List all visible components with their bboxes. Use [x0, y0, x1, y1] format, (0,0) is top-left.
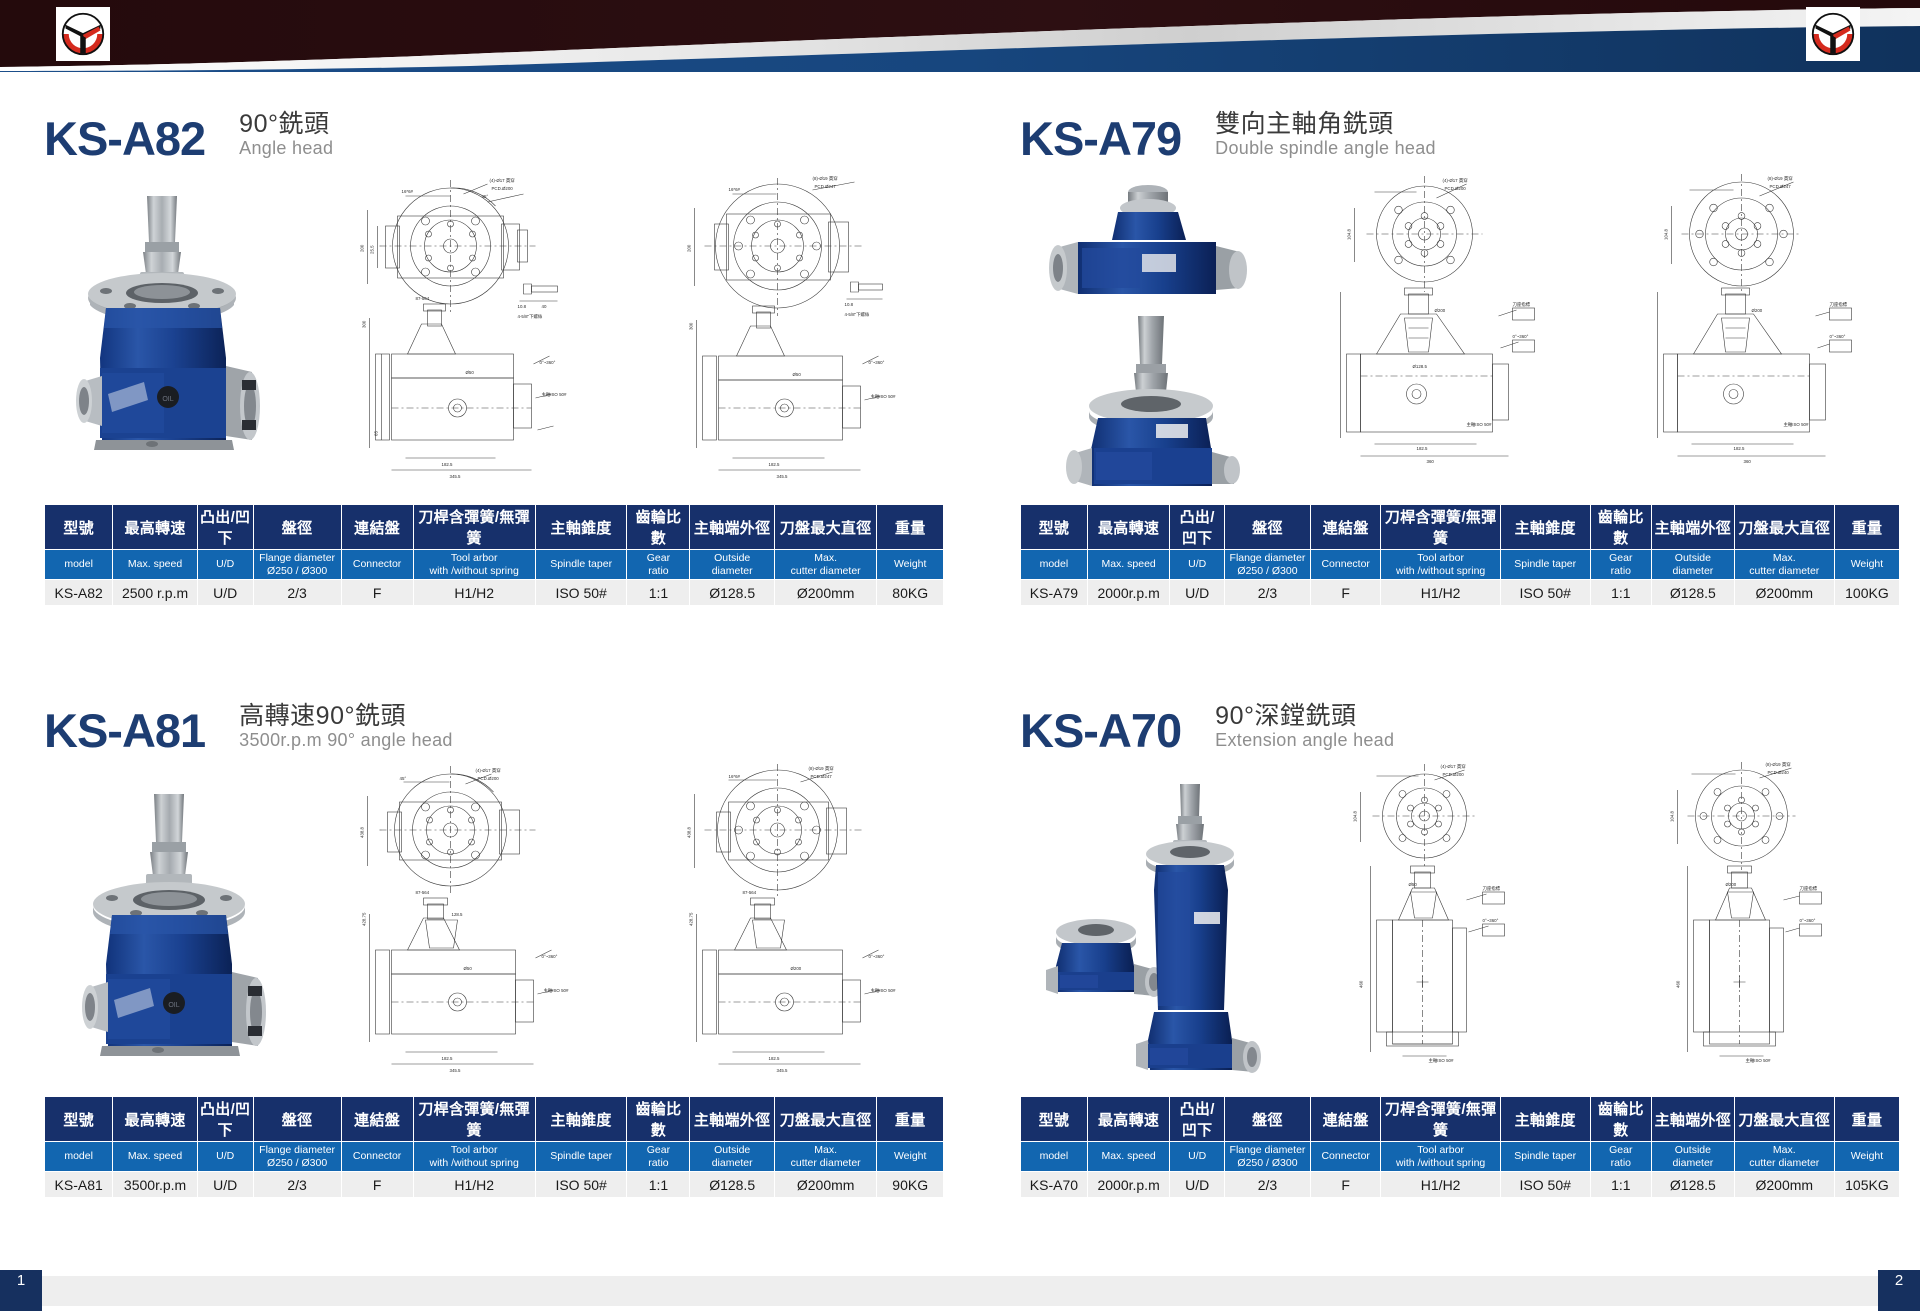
cell-gear-ratio: 1:1 [627, 580, 690, 606]
dim-104-8-label: 104.8 [1347, 228, 1352, 240]
dim-182-5-label-2: 182.5 [769, 1056, 781, 1061]
iso-note-label: 主軸ISO 50# [544, 987, 569, 994]
table-header-row-chinese: 型號 最高轉速 凸出/凹下 盤徑 連結盤 刀桿含彈簧/無彈簧 主軸錐度 齒輪比數… [1021, 1097, 1900, 1142]
pcd2-note-label: (8)-Ø19 貫穿 [1768, 175, 1794, 182]
product-section-ks-a79: KS-A79 雙向主軸角銑頭 Double spindle angle head [1020, 98, 1900, 658]
pcd-value-label: PCD.Ø200 [478, 776, 500, 781]
cell-model: KS-A81 [45, 1172, 113, 1198]
iso-note-label-2: 主軸ISO 50# [1746, 1057, 1771, 1064]
pcd2-value-label: PCD.Ø247 [1770, 184, 1792, 189]
th-cn-10: 重量 [877, 505, 944, 550]
dim-182-5-label: 182.5 [442, 462, 454, 467]
drawing-left: 45° (4)-Ø17 貫穿 PCD.Ø200 438.8 87-564 Ø50… [294, 760, 617, 1090]
flange-and-section-drawing: (4)-Ø17 貫穿 PCD.Ø200 104.8 Ø200 Ø128.5 刀座… [1270, 168, 1583, 498]
cell-flange-diameter: 2/3 [253, 1172, 341, 1198]
cell-max-cutter-diameter: Ø200mm [1734, 580, 1834, 606]
rotation-note-label: 0°~360° [1483, 918, 1499, 923]
cell-max-speed: 2000r.p.m [1087, 1172, 1170, 1198]
th-cn-6: 主軸錐度 [1500, 1097, 1590, 1142]
dim-200-label-2: Ø200 [1752, 308, 1763, 313]
flange-and-extension-section-drawing: (4)-Ø17 貫穿 PCD.Ø200 104.8 Ø50 460 刀座指標 0… [1270, 760, 1583, 1090]
pcd2-value-label: PCD.Ø240 [1768, 770, 1790, 775]
product-title-row: KS-A81 高轉速90°銑頭 3500r.p.m 90° angle head [44, 690, 944, 756]
th-cn-7: 齒輪比數 [1590, 1097, 1652, 1142]
dim-16x6-label-2: 16*6# [729, 187, 741, 192]
cell-weight: 100KG [1834, 580, 1899, 606]
th-cn-10: 重量 [1834, 1097, 1899, 1142]
th-en-2: U/D [1170, 1142, 1224, 1172]
dim-428-75-label: 428.75 [362, 912, 367, 926]
product-title-english: Extension angle head [1215, 730, 1394, 752]
dim-65-label: 65 [374, 431, 379, 436]
company-logo-icon [60, 11, 106, 57]
dim-50-label: Ø50 [1409, 882, 1418, 887]
dim-182-5-label-2: 182.5 [769, 462, 781, 467]
dim-300-label: 300 [362, 320, 367, 328]
table-header-row-english: model Max. speed U/D Flange diameterØ250… [45, 550, 944, 580]
th-en-10: Weight [1834, 1142, 1899, 1172]
dim-16x6-label: 16*6# [402, 189, 414, 194]
angle-45-label: 45° [400, 776, 407, 781]
bolt-length-label: 40 [542, 304, 547, 309]
iso-note-label: 主軸ISO 50# [1467, 421, 1492, 428]
th-cn-1: 最高轉速 [113, 1097, 198, 1142]
dim-104-8-label-2: 104.8 [1670, 810, 1675, 822]
cell-spindle-taper: ISO 50# [1500, 1172, 1590, 1198]
cell-spindle-taper: ISO 50# [535, 1172, 627, 1198]
product-visual-area: (4)-Ø17 貫穿 PCD.Ø200 104.8 Ø50 460 刀座指標 0… [1020, 760, 1900, 1090]
dim-50-label: Ø50 [466, 370, 475, 375]
th-cn-8: 主軸端外徑 [1652, 1097, 1735, 1142]
th-en-8: Outsidediameter [690, 550, 775, 580]
th-cn-1: 最高轉速 [1087, 505, 1170, 550]
rotation-note-label-2: 0°~360° [1800, 918, 1816, 923]
th-cn-0: 型號 [45, 1097, 113, 1142]
th-en-1: Max. speed [113, 550, 198, 580]
dim-50-label: Ø50 [464, 966, 473, 971]
spec-table-ks-a82: 型號 最高轉速 凸出/凹下 盤徑 連結盤 刀桿含彈簧/無彈簧 主軸錐度 齒輪比數… [44, 504, 944, 606]
th-cn-7: 齒輪比數 [627, 1097, 690, 1142]
th-en-10: Weight [877, 550, 944, 580]
th-cn-1: 最高轉速 [1087, 1097, 1170, 1142]
dim-128-5-label: 128.5 [452, 912, 464, 917]
cell-outside-diameter: Ø128.5 [690, 1172, 775, 1198]
th-en-3: Flange diameterØ250 / Ø300 [253, 1142, 341, 1172]
rotation-note-label: 0°~360° [540, 360, 556, 365]
th-en-6: Spindle taper [1500, 1142, 1590, 1172]
dim-128-5-label: Ø128.5 [1413, 364, 1428, 369]
dim-87-564-label: 87-564 [416, 296, 430, 301]
technical-drawings-ks-a70: (4)-Ø17 貫穿 PCD.Ø200 104.8 Ø50 460 刀座指標 0… [1270, 760, 1900, 1090]
product-model-code: KS-A82 [44, 115, 205, 164]
pcd2-note-label: (8)-Ø19 貫穿 [1766, 761, 1792, 768]
th-en-9: Max.cutter diameter [774, 1142, 876, 1172]
th-cn-10: 重量 [1834, 505, 1899, 550]
cell-max-speed: 3500r.p.m [113, 1172, 198, 1198]
th-cn-6: 主軸錐度 [1500, 505, 1590, 550]
product-title-chinese: 90°銑頭 [239, 110, 333, 138]
second-flange-and-extension-section-drawing: (8)-Ø19 貫穿 PCD.Ø240 104.8 Ø200 460 刀座指標 … [1587, 760, 1900, 1090]
th-cn-1: 最高轉速 [113, 505, 198, 550]
cell-max-speed: 2000r.p.m [1087, 580, 1170, 606]
pcd-note-label: (4)-Ø17 貫穿 [476, 767, 502, 774]
cell-max-speed: 2500 r.p.m [113, 580, 198, 606]
th-en-0: model [45, 550, 113, 580]
bolt-head-label: 10.8 [518, 304, 527, 309]
th-en-5: Tool arborwith /without spring [413, 550, 535, 580]
iso-note-label-2: 主軸ISO 50# [871, 987, 896, 994]
technical-drawings-ks-a79: (4)-Ø17 貫穿 PCD.Ø200 104.8 Ø200 Ø128.5 刀座… [1270, 168, 1900, 498]
cell-flange-diameter: 2/3 [1224, 580, 1310, 606]
pcd2-value-label: PCD.Ø247 [811, 774, 833, 779]
th-cn-8: 主軸端外徑 [690, 505, 775, 550]
th-cn-10: 重量 [877, 1097, 944, 1142]
product-visual-area: (4)-Ø17 貫穿 PCD.Ø200 104.8 Ø200 Ø128.5 刀座… [1020, 168, 1900, 498]
lock-note-label: 刀座指標 [1513, 301, 1531, 308]
th-en-4: Connector [1311, 550, 1381, 580]
th-en-7: Gearratio [1590, 550, 1652, 580]
dim-438-8-label-2: 438.8 [687, 826, 692, 838]
product-section-ks-a70: KS-A70 90°深鏜銑頭 Extension angle head [1020, 690, 1900, 1250]
dim-460-label-2: 460 [1676, 980, 1681, 988]
iso-note-label: 主軸ISO 50# [542, 391, 567, 398]
iso-note-label-2: 主軸ISO 50# [1784, 421, 1809, 428]
product-title-row: KS-A70 90°深鏜銑頭 Extension angle head [1020, 690, 1900, 756]
drawing-top-view-right: 16*6# (8)-Ø19 貫穿 PCD.Ø247 200 10.8 4-5/8… [621, 168, 944, 498]
th-cn-5: 刀桿含彈簧/無彈簧 [1381, 505, 1501, 550]
product-photo-ks-a70 [1020, 760, 1270, 1090]
svg-text:OIL: OIL [162, 396, 173, 403]
dim-438-8-label: 438.8 [360, 826, 365, 838]
product-model-code: KS-A70 [1020, 707, 1181, 756]
logo-container-left [56, 7, 110, 61]
th-cn-2: 凸出/凹下 [1170, 1097, 1224, 1142]
th-en-3: Flange diameterØ250 / Ø300 [1224, 1142, 1310, 1172]
cell-weight: 105KG [1834, 1172, 1899, 1198]
th-en-7: Gearratio [1590, 1142, 1652, 1172]
cell-ud: U/D [197, 1172, 253, 1198]
cell-model: KS-A70 [1021, 1172, 1088, 1198]
product-title-chinese: 高轉速90°銑頭 [239, 702, 453, 730]
th-cn-4: 連結盤 [341, 505, 413, 550]
cell-gear-ratio: 1:1 [1590, 580, 1652, 606]
cell-connector: F [341, 1172, 413, 1198]
high-speed-angle-head-photo-illustration: OIL [44, 760, 294, 1090]
footer-bar [22, 1276, 1898, 1306]
th-en-4: Connector [1311, 1142, 1381, 1172]
th-cn-4: 連結盤 [1311, 1097, 1381, 1142]
dim-50-label-2: Ø50 [793, 372, 802, 377]
cell-weight: 90KG [877, 1172, 944, 1198]
banner-swoosh-graphic [0, 0, 1920, 72]
th-cn-9: 刀盤最大直徑 [1734, 505, 1834, 550]
product-title-chinese: 雙向主軸角銑頭 [1215, 110, 1436, 138]
dim-345-5-label-2: 345.5 [777, 1068, 789, 1073]
dim-104-8-label: 104.8 [1353, 810, 1358, 822]
rotation-note-label: 0°~360° [542, 954, 558, 959]
dim-182-5-label-2: 182.5 [1734, 446, 1746, 451]
lock-note-label: 刀座指標 [1483, 885, 1501, 892]
dim-360-label: 360 [1427, 459, 1435, 464]
th-en-4: Connector [341, 1142, 413, 1172]
product-title-english: 3500r.p.m 90° angle head [239, 730, 453, 752]
th-en-9: Max.cutter diameter [1734, 1142, 1834, 1172]
technical-drawings-ks-a81: 45° (4)-Ø17 貫穿 PCD.Ø200 438.8 87-564 Ø50… [294, 760, 944, 1090]
angle-head-photo-illustration: OIL [44, 168, 294, 498]
drawing-top-view-left: 16*6# 45° (4)-Ø17 貫穿 PCD.Ø200 200 25.5 1… [294, 168, 617, 498]
table-header-row-english: model Max. speed U/D Flange diameterØ250… [45, 1142, 944, 1172]
rotation-note-label-2: 0°~360° [869, 954, 885, 959]
th-cn-0: 型號 [45, 505, 113, 550]
product-model-code: KS-A81 [44, 707, 205, 756]
th-cn-6: 主軸錐度 [535, 505, 627, 550]
th-cn-2: 凸出/凹下 [197, 505, 253, 550]
cell-outside-diameter: Ø128.5 [690, 580, 775, 606]
table-row: KS-A70 2000r.p.m U/D 2/3 F H1/H2 ISO 50#… [1021, 1172, 1900, 1198]
cell-max-cutter-diameter: Ø200mm [774, 1172, 876, 1198]
th-en-9: Max.cutter diameter [1734, 550, 1834, 580]
th-cn-4: 連結盤 [341, 1097, 413, 1142]
th-en-10: Weight [877, 1142, 944, 1172]
second-flange-and-section-drawing: (8)-Ø19 貫穿 PCD.Ø247 104.8 Ø200 刀座指標 0°~3… [1587, 168, 1900, 498]
dim-87-564-label: 87-564 [416, 890, 430, 895]
th-en-1: Max. speed [1087, 1142, 1170, 1172]
drawing-left: (4)-Ø17 貫穿 PCD.Ø200 104.8 Ø50 460 刀座指標 0… [1270, 760, 1583, 1090]
technical-drawings-ks-a82: 16*6# 45° (4)-Ø17 貫穿 PCD.Ø200 200 25.5 1… [294, 168, 944, 498]
cell-tool-arbor: H1/H2 [413, 1172, 535, 1198]
product-photo-ks-a82: OIL [44, 168, 294, 498]
dim-200-label: Ø200 [1726, 882, 1737, 887]
product-visual-area: OIL [44, 760, 944, 1090]
top-and-front-view-drawing: 16*6# 45° (4)-Ø17 貫穿 PCD.Ø200 200 25.5 1… [294, 168, 617, 498]
pcd-value-label: PCD.Ø200 [1445, 186, 1467, 191]
th-cn-7: 齒輪比數 [627, 505, 690, 550]
bolt-head-label-2: 10.8 [845, 302, 854, 307]
table-header-row-chinese: 型號 最高轉速 凸出/凹下 盤徑 連結盤 刀桿含彈簧/無彈簧 主軸錐度 齒輪比數… [1021, 505, 1900, 550]
cell-connector: F [341, 580, 413, 606]
product-section-ks-a82: KS-A82 90°銑頭 Angle head [44, 98, 944, 658]
rotation-note-label: 0°~360° [1513, 334, 1529, 339]
th-en-9: Max.cutter diameter [774, 550, 876, 580]
th-en-2: U/D [197, 1142, 253, 1172]
bolt-spec-label: 4-5/8"下螺絲 [518, 313, 543, 320]
cell-flange-diameter: 2/3 [253, 580, 341, 606]
cell-connector: F [1311, 1172, 1381, 1198]
dim-25-5-label: 25.5 [370, 245, 375, 254]
cell-spindle-taper: ISO 50# [1500, 580, 1590, 606]
th-en-3: Flange diameterØ250 / Ø300 [1224, 550, 1310, 580]
th-en-0: model [1021, 1142, 1088, 1172]
rotation-note-label-2: 0°~360° [1830, 334, 1846, 339]
product-title-row: KS-A82 90°銑頭 Angle head [44, 98, 944, 164]
cell-flange-diameter: 2/3 [1224, 1172, 1310, 1198]
th-en-7: Gearratio [627, 1142, 690, 1172]
product-title-english: Double spindle angle head [1215, 138, 1436, 160]
th-cn-8: 主軸端外徑 [690, 1097, 775, 1142]
product-section-ks-a81: KS-A81 高轉速90°銑頭 3500r.p.m 90° angle head [44, 690, 944, 1250]
dim-360-label-2: 360 [1744, 459, 1752, 464]
dim-200-label: Ø200 [1435, 308, 1446, 313]
cell-tool-arbor: H1/H2 [1381, 580, 1501, 606]
pcd2-note-label: (8)-Ø19 貫穿 [813, 175, 839, 182]
cell-ud: U/D [1170, 1172, 1224, 1198]
pcd2-value-label: PCD.Ø247 [815, 184, 837, 189]
product-model-code: KS-A79 [1020, 115, 1181, 164]
th-en-3: Flange diameterØ250 / Ø300 [253, 550, 341, 580]
product-title-chinese: 90°深鏜銑頭 [1215, 702, 1394, 730]
th-en-2: U/D [1170, 550, 1224, 580]
logo-container-right [1806, 7, 1860, 61]
cell-connector: F [1311, 580, 1381, 606]
page-number-right: 2 [1878, 1270, 1920, 1311]
second-top-and-front-view-drawing: 16*6# (8)-Ø19 貫穿 PCD.Ø247 200 10.8 4-5/8… [621, 168, 944, 498]
th-cn-3: 盤徑 [1224, 505, 1310, 550]
th-cn-2: 凸出/凹下 [1170, 505, 1224, 550]
page-number-left: 1 [0, 1270, 42, 1311]
table-header-row-chinese: 型號 最高轉速 凸出/凹下 盤徑 連結盤 刀桿含彈簧/無彈簧 主軸錐度 齒輪比數… [45, 505, 944, 550]
iso-note-label-2: 主軸ISO 50# [871, 393, 896, 400]
cell-gear-ratio: 1:1 [1590, 1172, 1652, 1198]
spec-table-ks-a70: 型號 最高轉速 凸出/凹下 盤徑 連結盤 刀桿含彈簧/無彈簧 主軸錐度 齒輪比數… [1020, 1096, 1900, 1198]
th-cn-4: 連結盤 [1311, 505, 1381, 550]
table-row: KS-A82 2500 r.p.m U/D 2/3 F H1/H2 ISO 50… [45, 580, 944, 606]
dim-200-label-2: 200 [687, 244, 692, 252]
th-cn-9: 刀盤最大直徑 [1734, 1097, 1834, 1142]
cell-gear-ratio: 1:1 [627, 1172, 690, 1198]
svg-text:OIL: OIL [168, 1002, 179, 1009]
cell-max-cutter-diameter: Ø200mm [774, 580, 876, 606]
th-cn-7: 齒輪比數 [1590, 505, 1652, 550]
dim-200-label: 200 [360, 244, 365, 252]
th-cn-9: 刀盤最大直徑 [774, 1097, 876, 1142]
th-cn-3: 盤徑 [1224, 1097, 1310, 1142]
cell-model: KS-A79 [1021, 580, 1088, 606]
th-cn-5: 刀桿含彈簧/無彈簧 [413, 1097, 535, 1142]
cell-max-cutter-diameter: Ø200mm [1734, 1172, 1834, 1198]
cell-outside-diameter: Ø128.5 [1652, 1172, 1735, 1198]
angle-45-label: 45° [482, 194, 489, 199]
dim-345-5-label-2: 345.5 [777, 474, 789, 479]
th-cn-8: 主軸端外徑 [1652, 505, 1735, 550]
th-en-4: Connector [341, 550, 413, 580]
iso-note-label: 主軸ISO 50# [1429, 1057, 1454, 1064]
th-cn-0: 型號 [1021, 1097, 1088, 1142]
dim-87-564-label-2: 87-564 [743, 890, 757, 895]
th-en-8: Outsidediameter [1652, 550, 1735, 580]
dim-345-5-label: 345.5 [450, 1068, 462, 1073]
cell-ud: U/D [1170, 580, 1224, 606]
th-cn-5: 刀桿含彈簧/無彈簧 [1381, 1097, 1501, 1142]
drawing-right: (8)-Ø19 貫穿 PCD.Ø240 104.8 Ø200 460 刀座指標 … [1587, 760, 1900, 1090]
catalog-page: KS-A82 90°銑頭 Angle head [0, 0, 1920, 1311]
th-en-5: Tool arborwith /without spring [413, 1142, 535, 1172]
th-en-8: Outsidediameter [1652, 1142, 1735, 1172]
cell-model: KS-A82 [45, 580, 113, 606]
product-title-english: Angle head [239, 138, 333, 160]
pcd2-note-label: (8)-Ø19 貫穿 [809, 765, 835, 772]
page-header-banner [0, 0, 1920, 72]
bolt-spec-label-2: 4-5/8"下螺絲 [845, 311, 870, 318]
cell-ud: U/D [197, 580, 253, 606]
dim-200-label: Ø200 [791, 966, 802, 971]
th-en-0: model [1021, 550, 1088, 580]
dim-104-8-label-2: 104.8 [1664, 228, 1669, 240]
dim-16x6-label: 16*6# [729, 774, 741, 779]
th-en-10: Weight [1834, 550, 1899, 580]
cell-tool-arbor: H1/H2 [413, 580, 535, 606]
dim-428-75-label-2: 428.75 [689, 912, 694, 926]
th-cn-0: 型號 [1021, 505, 1088, 550]
th-cn-9: 刀盤最大直徑 [774, 505, 876, 550]
th-cn-2: 凸出/凹下 [197, 1097, 253, 1142]
extension-angle-head-photo-illustration [1020, 760, 1270, 1090]
pcd-note-label: (4)-Ø17 貫穿 [1441, 763, 1467, 770]
dim-182-5-label: 182.5 [1417, 446, 1429, 451]
drawing-right: 16*6# (8)-Ø19 貫穿 PCD.Ø247 438.8 87-564 Ø… [621, 760, 944, 1090]
cell-spindle-taper: ISO 50# [535, 580, 627, 606]
th-en-6: Spindle taper [1500, 550, 1590, 580]
spec-table-ks-a79: 型號 最高轉速 凸出/凹下 盤徑 連結盤 刀桿含彈簧/無彈簧 主軸錐度 齒輪比數… [1020, 504, 1900, 606]
product-photo-ks-a79 [1020, 168, 1270, 498]
th-cn-6: 主軸錐度 [535, 1097, 627, 1142]
dim-300-label-2: 300 [689, 322, 694, 330]
th-en-5: Tool arborwith /without spring [1381, 550, 1501, 580]
table-row: KS-A79 2000r.p.m U/D 2/3 F H1/H2 ISO 50#… [1021, 580, 1900, 606]
th-en-1: Max. speed [1087, 550, 1170, 580]
spec-table-ks-a81: 型號 最高轉速 凸出/凹下 盤徑 連結盤 刀桿含彈簧/無彈簧 主軸錐度 齒輪比數… [44, 1096, 944, 1198]
lock-note-label-2: 刀座指標 [1830, 301, 1848, 308]
table-header-row-english: model Max. speed U/D Flange diameterØ250… [1021, 1142, 1900, 1172]
th-en-6: Spindle taper [535, 550, 627, 580]
rotation-note-label-2: 0°~360° [869, 360, 885, 365]
pcd-note-label: (4)-Ø17 貫穿 [490, 177, 516, 184]
table-header-row-english: model Max. speed U/D Flange diameterØ250… [1021, 550, 1900, 580]
th-en-6: Spindle taper [535, 1142, 627, 1172]
th-en-0: model [45, 1142, 113, 1172]
second-top-and-front-view-drawing: 16*6# (8)-Ø19 貫穿 PCD.Ø247 438.8 87-564 Ø… [621, 760, 944, 1090]
pcd-value-label: PCD.Ø200 [1443, 772, 1465, 777]
table-row: KS-A81 3500r.p.m U/D 2/3 F H1/H2 ISO 50#… [45, 1172, 944, 1198]
th-cn-3: 盤徑 [253, 505, 341, 550]
th-en-2: U/D [197, 550, 253, 580]
table-header-row-chinese: 型號 最高轉速 凸出/凹下 盤徑 連結盤 刀桿含彈簧/無彈簧 主軸錐度 齒輪比數… [45, 1097, 944, 1142]
drawing-left: (4)-Ø17 貫穿 PCD.Ø200 104.8 Ø200 Ø128.5 刀座… [1270, 168, 1583, 498]
th-en-7: Gearratio [627, 550, 690, 580]
cell-tool-arbor: H1/H2 [1381, 1172, 1501, 1198]
dim-182-5-label: 182.5 [442, 1056, 454, 1061]
top-and-front-view-drawing: 45° (4)-Ø17 貫穿 PCD.Ø200 438.8 87-564 Ø50… [294, 760, 617, 1090]
cell-outside-diameter: Ø128.5 [1652, 580, 1735, 606]
dim-345-5-label: 345.5 [450, 474, 462, 479]
pcd-note-label: (4)-Ø17 貫穿 [1443, 177, 1469, 184]
th-en-8: Outsidediameter [690, 1142, 775, 1172]
pcd-value-label: PCD.Ø200 [492, 186, 514, 191]
drawing-right: (8)-Ø19 貫穿 PCD.Ø247 104.8 Ø200 刀座指標 0°~3… [1587, 168, 1900, 498]
double-spindle-angle-head-photo-illustration [1020, 168, 1270, 498]
page-footer: 1 2 [0, 1270, 1920, 1311]
th-en-1: Max. speed [113, 1142, 198, 1172]
th-cn-5: 刀桿含彈簧/無彈簧 [413, 505, 535, 550]
dim-460-label: 460 [1359, 980, 1364, 988]
th-en-5: Tool arborwith /without spring [1381, 1142, 1501, 1172]
product-photo-ks-a81: OIL [44, 760, 294, 1090]
company-logo-icon [1810, 11, 1856, 57]
product-visual-area: OIL [44, 168, 944, 498]
lock-note-label-2: 刀座指標 [1800, 885, 1818, 892]
th-cn-3: 盤徑 [253, 1097, 341, 1142]
cell-weight: 80KG [877, 580, 944, 606]
product-title-row: KS-A79 雙向主軸角銑頭 Double spindle angle head [1020, 98, 1900, 164]
